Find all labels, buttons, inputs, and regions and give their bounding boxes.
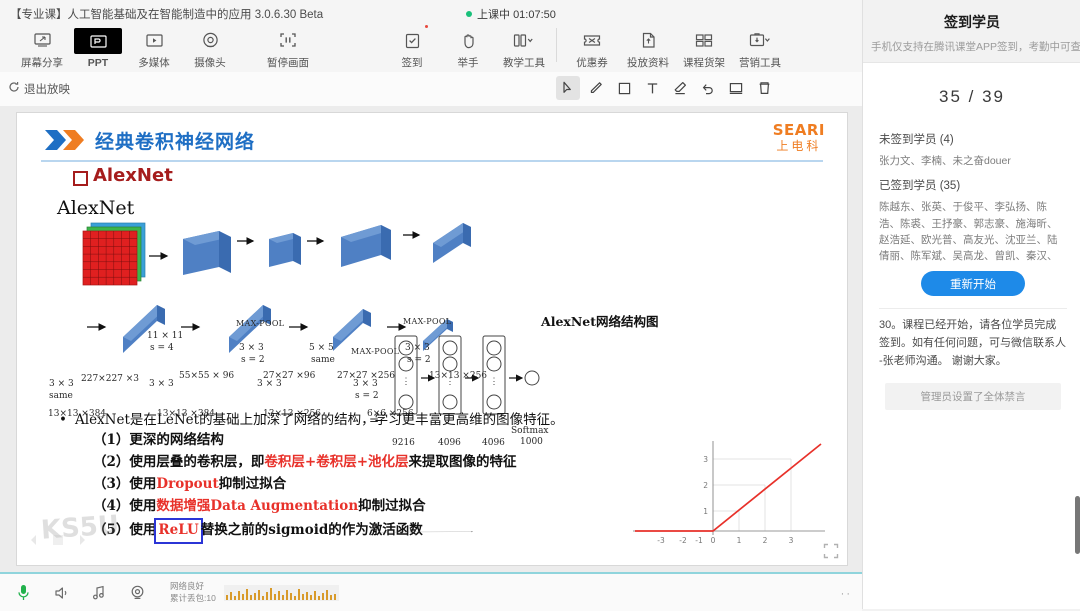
- toolbar-course-shelf[interactable]: 课程货架: [676, 24, 732, 70]
- bullet-text-2-1: 卷积层+卷积层+池化层: [264, 454, 408, 470]
- live-class-app: 【专业课】人工智能基础及在智能制造中的应用 3.0.6.30 Beta 上课中 …: [0, 0, 1080, 609]
- brand-logo-cn: 上电科: [773, 140, 825, 152]
- svg-text:3: 3: [703, 455, 708, 464]
- bullet-dot-icon: •: [59, 410, 75, 430]
- slide-sub-title: AlexNet: [93, 165, 173, 186]
- toolbar-teaching-tools[interactable]: 教学工具: [496, 24, 552, 70]
- bullet-index-2: （2）: [93, 454, 129, 470]
- toolbar-right-group: 签到 举手 教学工具: [384, 24, 788, 70]
- rectangle-tool[interactable]: [612, 76, 636, 100]
- svg-text:⋮: ⋮: [402, 377, 411, 387]
- toolbar-pause-frame-label: 暂停画面: [267, 55, 309, 70]
- not-checked-names: 张力文、李楠、未之奋douer: [879, 153, 1067, 169]
- fullscreen-icon[interactable]: [823, 543, 839, 559]
- svg-text:-3: -3: [657, 536, 665, 545]
- bottom-status-bar: 网络良好 累计丢包:10 ··: [0, 572, 862, 611]
- network-status-label: 网络良好: [170, 581, 216, 592]
- bullet-text-5-2: 替换之前的sigmoid的作为激活函数: [201, 522, 423, 538]
- chat-scrollbar-thumb[interactable]: [1075, 496, 1080, 554]
- toolbar-multimedia[interactable]: 多媒体: [126, 24, 182, 70]
- svg-text:3: 3: [789, 536, 794, 545]
- bullet-text-4-0: 使用: [129, 498, 156, 514]
- toolbar-divider: [556, 28, 557, 62]
- figure-caption: AlexNet网络结构图: [541, 311, 659, 330]
- exit-presentation-button[interactable]: 退出放映: [8, 80, 70, 98]
- panel-title: 签到学员: [863, 0, 1080, 32]
- bullet-item-1: （1）更深的网络结构: [93, 430, 699, 452]
- toolbar-left-group: 屏幕分享 PPT 多媒体: [14, 24, 316, 70]
- bullet-text-5-0: 使用: [129, 522, 156, 538]
- bullet-text-1-0: 更深的网络结构: [129, 432, 224, 448]
- material-icon: [633, 28, 663, 52]
- brand-logo-en: SEARI: [773, 123, 825, 138]
- bullet-text-4-2: 抑制过拟合: [358, 498, 426, 514]
- live-dot-icon: [466, 11, 472, 17]
- teaching-tools-icon: [509, 28, 539, 52]
- slide-bullets: •AlexNet是在LeNet的基础上加深了网络的结构，学习更丰富更高维的图像特…: [59, 410, 699, 544]
- camera-icon: [195, 28, 225, 52]
- toolbar-camera-label: 摄像头: [194, 55, 226, 70]
- checked-count: (35): [940, 180, 960, 192]
- toolbar-pause-frame[interactable]: 暂停画面: [260, 24, 316, 70]
- live-timer: 01:07:50: [513, 9, 556, 21]
- chat-area: 30。课程已经开始，请各位学员完成签到。如有任何问题，可与微信联系人 -张老师沟…: [863, 309, 1080, 409]
- toolbar-raise-hand-label: 举手: [458, 55, 479, 70]
- slide-foot-icons: [27, 533, 89, 552]
- panel-subtitle: 手机仅支持在腾讯课堂APP签到，考勤中可查: [863, 32, 1080, 54]
- text-tool[interactable]: [640, 76, 664, 100]
- bullet-text-3-2: 抑制过拟合: [219, 476, 287, 492]
- brand-logo: SEARI 上电科: [773, 123, 825, 152]
- bullet-item-4: （4）使用数据增强Data Augmentation抑制过拟合: [93, 496, 699, 518]
- svg-text:1: 1: [737, 536, 742, 545]
- svg-text:2: 2: [703, 481, 708, 490]
- slide-list-icon[interactable]: [51, 533, 65, 552]
- ppt-icon: [90, 35, 107, 48]
- bullet-text-3-1: Dropout: [156, 476, 218, 492]
- packet-loss-label: 累计丢包:10: [170, 593, 216, 604]
- restart-button[interactable]: 重新开始: [921, 271, 1025, 296]
- checkin-counter: 35 / 39: [863, 63, 1080, 117]
- system-message: 管理员设置了全体禁言: [885, 383, 1061, 410]
- speaker-icon[interactable]: [52, 584, 70, 602]
- toolbar-ppt[interactable]: PPT: [70, 24, 126, 69]
- whiteboard-tool[interactable]: [724, 76, 748, 100]
- svg-text:2: 2: [763, 536, 768, 545]
- bullet-index-3: （3）: [93, 476, 129, 492]
- network-status-block: 网络良好 累计丢包:10: [170, 581, 339, 604]
- svg-text:-1: -1: [695, 536, 703, 545]
- toolbar-coupon[interactable]: 优惠券: [564, 24, 620, 70]
- svg-text:-2: -2: [679, 536, 687, 545]
- annotation-arrow: [193, 531, 663, 533]
- course-shelf-icon: [689, 28, 719, 52]
- bottom-more-icon[interactable]: ··: [841, 588, 852, 600]
- prev-slide-icon[interactable]: [27, 533, 41, 552]
- chevron-decoration-icon: [43, 129, 89, 156]
- undo-tool[interactable]: [696, 76, 720, 100]
- slide-header-title: 经典卷积神经网络: [95, 127, 255, 154]
- checked-label: 已签到学员: [879, 180, 937, 192]
- live-status: 上课中 01:07:50: [466, 6, 556, 22]
- student-lists: 未签到学员 (4) 张力文、李楠、未之奋douer 已签到学员 (35) 陈越东…: [863, 117, 1080, 309]
- not-checked-label: 未签到学员: [879, 134, 937, 146]
- multimedia-icon: [139, 28, 169, 52]
- toolbar-material[interactable]: 投放资料: [620, 24, 676, 70]
- bullet-index-1: （1）: [93, 432, 129, 448]
- live-status-label: 上课中: [477, 9, 510, 21]
- microphone-icon[interactable]: [14, 584, 32, 602]
- relu-chart: -3-2-1 0123 123: [625, 433, 831, 555]
- slide-stage: 经典卷积神经网络 SEARI 上电科 AlexNet AlexNet: [0, 106, 862, 572]
- eraser-tool[interactable]: [668, 76, 692, 100]
- not-checked-count: (4): [940, 134, 954, 146]
- svg-text:⋮: ⋮: [490, 377, 499, 387]
- marketing-tools-icon: [745, 28, 775, 52]
- checkin-badge-dot: [425, 25, 428, 28]
- ppt-active-box: [74, 28, 122, 54]
- toolbar-raise-hand[interactable]: 举手: [440, 24, 496, 70]
- exit-presentation-label: 退出放映: [24, 81, 70, 97]
- music-note-icon[interactable]: [90, 584, 108, 602]
- bullet-main-text: AlexNet是在LeNet的基础上加深了网络的结构，学习更丰富更高维的图像特征…: [75, 412, 564, 428]
- trash-tool[interactable]: [752, 76, 776, 100]
- checked-heading: 已签到学员 (35): [879, 177, 1067, 193]
- checkin-panel: 签到学员 手机仅支持在腾讯课堂APP签到，考勤中可查 35 / 39 未签到学员…: [862, 0, 1080, 609]
- checked-names: 陈越东、张英、于俊平、李弘扬、陈浩、陈裘、王抒豪、郭志豪、施海昕、赵浩延、欧光普…: [879, 199, 1067, 261]
- svg-text:1: 1: [703, 507, 708, 516]
- raise-hand-icon: [453, 28, 483, 52]
- toolbar-ppt-label: PPT: [88, 57, 108, 69]
- diagram-kernel-13: s = 2: [355, 391, 379, 401]
- annotation-bar: 退出放映: [0, 72, 862, 107]
- toolbar-marketing-tools[interactable]: 营销工具: [732, 24, 788, 70]
- toolbar-checkin[interactable]: 签到: [384, 24, 440, 70]
- pause-frame-icon: [273, 28, 303, 52]
- audio-waveform: [224, 585, 339, 601]
- window-title: 【专业课】人工智能基础及在智能制造中的应用 3.0.6.30 Beta: [10, 6, 323, 22]
- toolbar: 屏幕分享 PPT 多媒体: [0, 24, 862, 72]
- bullet-item-3: （3）使用Dropout抑制过拟合: [93, 474, 699, 496]
- bullet-text-3-0: 使用: [129, 476, 156, 492]
- toolbar-course-shelf-label: 课程货架: [683, 55, 725, 70]
- svg-text:⋮: ⋮: [446, 377, 455, 387]
- toolbar-screen-share-label: 屏幕分享: [21, 55, 63, 70]
- svg-text:0: 0: [711, 536, 716, 545]
- coupon-icon: [577, 28, 607, 52]
- annotation-tools: [556, 76, 776, 100]
- chat-message: 30。课程已经开始，请各位学员完成签到。如有任何问题，可与微信联系人 -张老师沟…: [879, 317, 1067, 370]
- checkin-icon: [397, 28, 427, 52]
- bullet-square-icon: [73, 171, 88, 186]
- bullet-text-2-2: 来提取图像的特征: [409, 454, 517, 470]
- webcam-icon[interactable]: [128, 584, 146, 602]
- toolbar-material-label: 投放资料: [627, 55, 669, 70]
- screen-share-icon: [27, 28, 57, 52]
- panel-header: 签到学员 手机仅支持在腾讯课堂APP签到，考勤中可查: [863, 0, 1080, 63]
- toolbar-multimedia-label: 多媒体: [138, 55, 170, 70]
- diagram-kernel-9: same: [49, 391, 73, 401]
- toolbar-screen-share[interactable]: 屏幕分享: [14, 24, 70, 70]
- toolbar-checkin-label: 签到: [402, 55, 423, 70]
- bullet-text-4-1: 数据增强Data Augmentation: [156, 498, 358, 514]
- top-bar: 【专业课】人工智能基础及在智能制造中的应用 3.0.6.30 Beta 上课中 …: [0, 0, 862, 72]
- next-slide-icon[interactable]: [75, 533, 89, 552]
- not-checked-heading: 未签到学员 (4): [879, 131, 1067, 147]
- select-tool[interactable]: [556, 76, 580, 100]
- bullet-item-2: （2）使用层叠的卷积层，即卷积层+卷积层+池化层来提取图像的特征: [93, 452, 699, 474]
- bullet-text-2-0: 使用层叠的卷积层，即: [129, 454, 264, 470]
- toolbar-coupon-label: 优惠券: [576, 55, 608, 70]
- toolbar-marketing-tools-label: 营销工具: [739, 55, 781, 70]
- exit-presentation-icon: [8, 80, 20, 98]
- presentation-slide[interactable]: 经典卷积神经网络 SEARI 上电科 AlexNet AlexNet: [16, 112, 848, 566]
- toolbar-teaching-tools-label: 教学工具: [503, 55, 545, 70]
- bullet-main: •AlexNet是在LeNet的基础上加深了网络的结构，学习更丰富更高维的图像特…: [59, 410, 699, 430]
- toolbar-camera[interactable]: 摄像头: [182, 24, 238, 70]
- slide-header-rule: [41, 160, 823, 162]
- pen-tool[interactable]: [584, 76, 608, 100]
